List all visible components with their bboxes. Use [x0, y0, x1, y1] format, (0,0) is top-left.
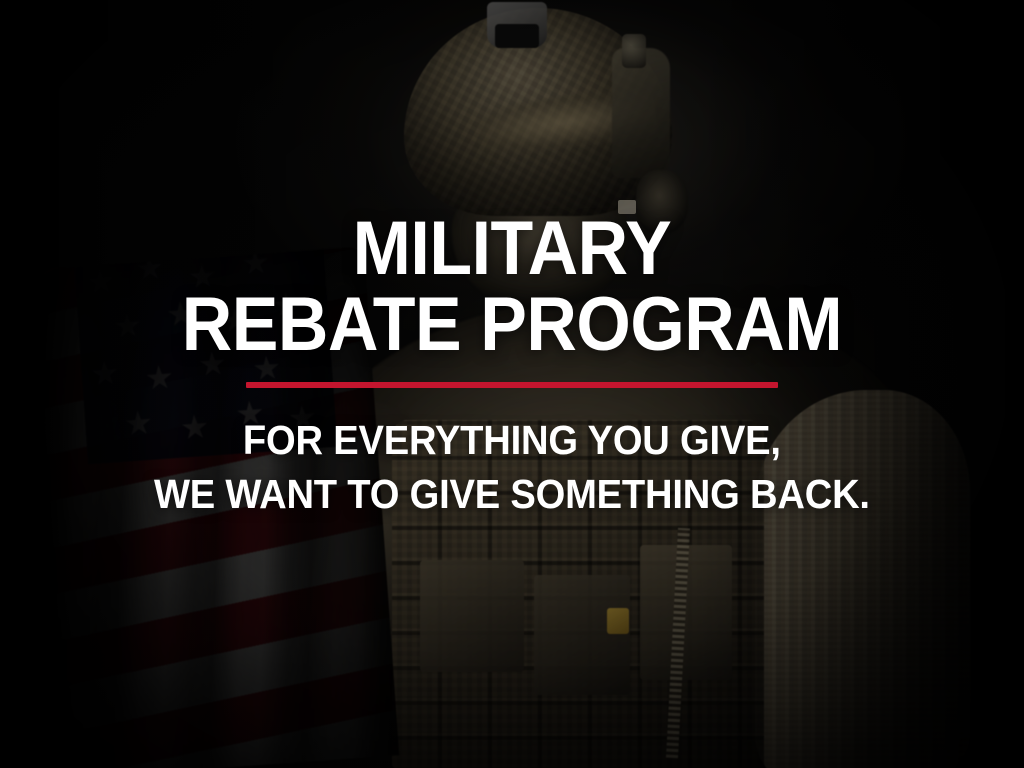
banner-content: MILITARY REBATE PROGRAM FOR EVERYTHING Y… — [0, 0, 1024, 768]
page-title: MILITARY REBATE PROGRAM — [182, 0, 842, 360]
headline-line-1: MILITARY — [182, 214, 842, 284]
page-subtitle: FOR EVERYTHING YOU GIVE, WE WANT TO GIVE… — [154, 388, 870, 517]
subhead-line-2: WE WANT TO GIVE SOMETHING BACK. — [154, 472, 870, 516]
military-rebate-banner: MILITARY REBATE PROGRAM FOR EVERYTHING Y… — [0, 0, 1024, 768]
headline-line-2: REBATE PROGRAM — [182, 290, 842, 360]
subhead-line-1: FOR EVERYTHING YOU GIVE, — [154, 418, 870, 462]
